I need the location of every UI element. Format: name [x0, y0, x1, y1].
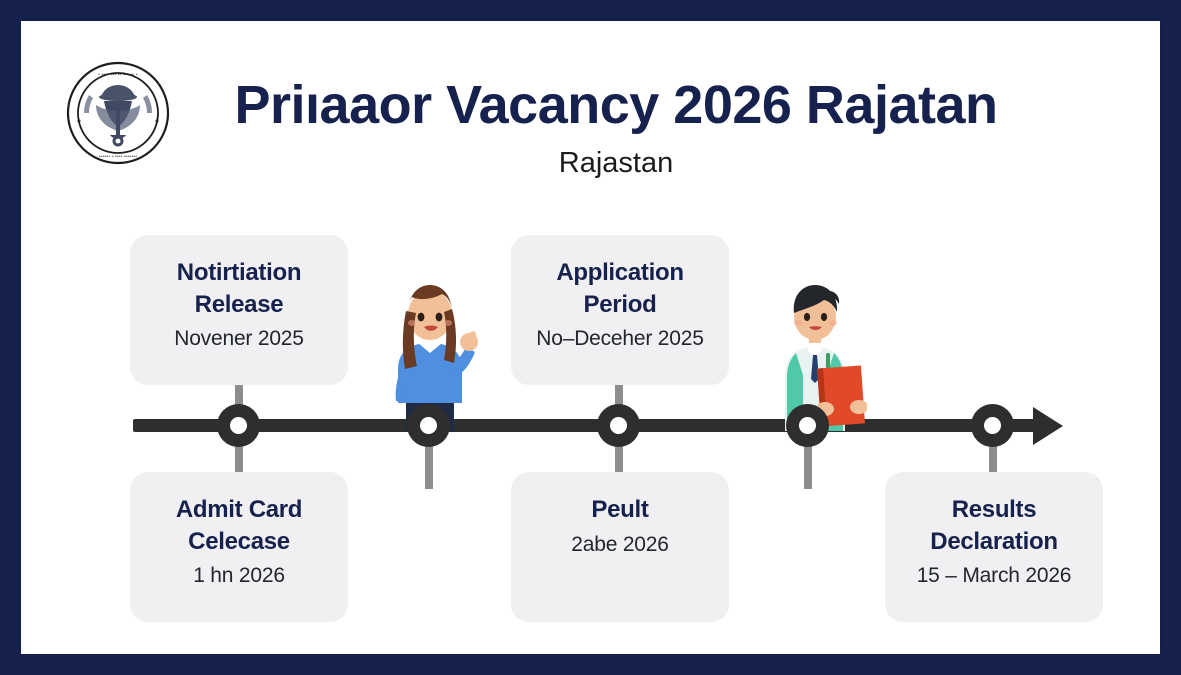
timeline-marker-4[interactable] — [786, 404, 829, 447]
milestone-title: Application Period — [521, 257, 719, 320]
page-subtitle: Rajastan — [201, 147, 1031, 180]
milestone-date: 15 – March 2026 — [895, 564, 1093, 588]
timeline-marker-5[interactable] — [971, 404, 1014, 447]
milestone-card-notification-release[interactable]: Notirtiation Release Novener 2025 — [130, 235, 348, 385]
page-title: Priıaaor Vacancy 2026 Rajatan — [201, 77, 1031, 134]
milestone-date: 2abe 2026 — [521, 533, 719, 557]
milestone-card-application-period[interactable]: Application Period No–Deceher 2025 — [511, 235, 729, 385]
milestone-title: Admit Card Celecase — [140, 494, 338, 557]
poster-panel: ▪ ▪▪▪▪ ▪▪▪ ▪▪ ▪▪▪▪▪▪ ▪ ▪▪▪▪▪▪ ▪ ▪▪▪▪ ▪▪▪… — [21, 21, 1160, 654]
milestone-date: No–Deceher 2025 — [521, 327, 719, 351]
poster-frame: ▪ ▪▪▪▪ ▪▪▪ ▪▪ ▪▪▪▪▪▪ ▪ ▪▪▪▪▪▪ ▪ ▪▪▪▪ ▪▪▪… — [0, 0, 1181, 675]
timeline-marker-3[interactable] — [597, 404, 640, 447]
milestone-title: Notirtiation Release — [140, 257, 338, 320]
milestone-date: 1 hn 2026 — [140, 564, 338, 588]
milestone-date: Novener 2025 — [140, 327, 338, 351]
timeline-arrow-icon — [1033, 407, 1063, 445]
milestone-title: Results Declaration — [895, 494, 1093, 557]
institution-seal-logo: ▪ ▪▪▪▪ ▪▪▪ ▪▪ ▪▪▪▪▪▪ ▪ ▪▪▪▪▪▪ ▪ ▪▪▪▪ ▪▪▪… — [66, 61, 170, 165]
milestone-card-admit-card-release[interactable]: Admit Card Celecase 1 hn 2026 — [130, 472, 348, 622]
timeline-axis — [133, 419, 1038, 432]
svg-text:▪▪▪▪▪▪ ▪ ▪▪▪▪ ▪▪▪▪▪▪▪: ▪▪▪▪▪▪ ▪ ▪▪▪▪ ▪▪▪▪▪▪▪ — [99, 154, 138, 160]
svg-text:▪ ▪▪▪▪ ▪▪▪ ▪▪ ▪▪▪▪▪▪ ▪: ▪ ▪▪▪▪ ▪▪▪ ▪▪ ▪▪▪▪▪▪ ▪ — [98, 72, 137, 78]
milestone-card-result[interactable]: Peult 2abe 2026 — [511, 472, 729, 622]
milestone-card-results-declaration[interactable]: Results Declaration 15 – March 2026 — [885, 472, 1103, 622]
timeline-marker-1[interactable] — [217, 404, 260, 447]
milestone-title: Peult — [521, 494, 719, 526]
timeline-marker-2[interactable] — [407, 404, 450, 447]
